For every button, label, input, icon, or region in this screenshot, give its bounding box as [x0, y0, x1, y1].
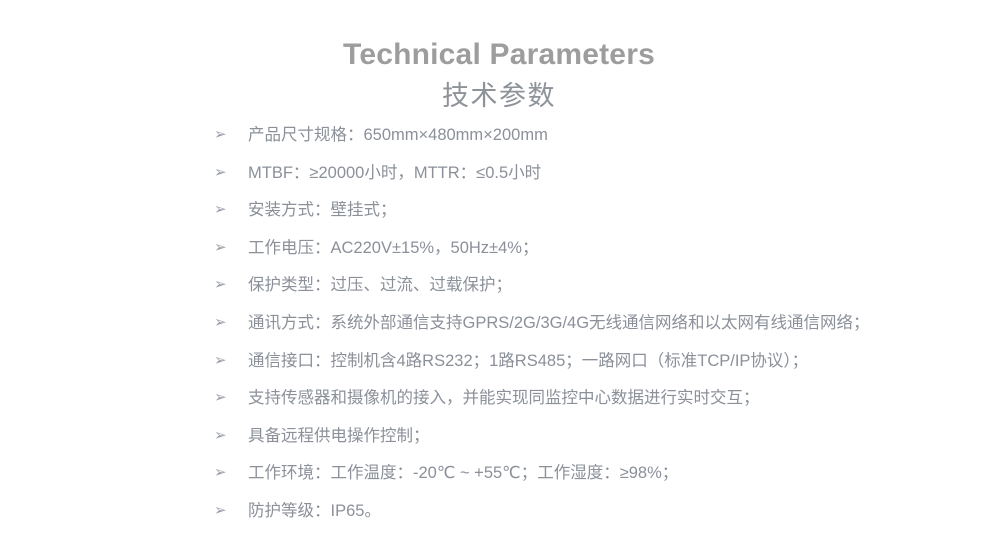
arrow-right-bullet-icon: ➢	[214, 197, 238, 223]
spec-item-text: 产品尺寸规格：650mm×480mm×200mm	[248, 122, 548, 148]
arrow-right-bullet-icon: ➢	[214, 122, 238, 148]
spec-item-text: 防护等级：IP65。	[248, 498, 381, 524]
spec-item-text: 工作电压：AC220V±15%，50Hz±4%；	[248, 235, 538, 261]
arrow-right-bullet-icon: ➢	[214, 235, 238, 261]
spec-list-item: ➢保护类型：过压、过流、过载保护；	[214, 272, 994, 310]
spec-item-text: MTBF：≥20000小时，MTTR：≤0.5小时	[248, 160, 541, 186]
spec-item-text: 通信接口：控制机含4路RS232；1路RS485；一路网口（标准TCP/IP协议…	[248, 348, 808, 374]
technical-parameters-page: Technical Parameters 技术参数 ➢产品尺寸规格：650mm×…	[0, 0, 998, 550]
spec-item-text: 安装方式：壁挂式；	[248, 197, 397, 223]
spec-list-item: ➢MTBF：≥20000小时，MTTR：≤0.5小时	[214, 160, 994, 198]
spec-item-text: 保护类型：过压、过流、过载保护；	[248, 272, 512, 298]
spec-list-item: ➢工作环境：工作温度：-20℃ ~ +55℃；工作湿度：≥98%；	[214, 460, 994, 498]
spec-item-text: 支持传感器和摄像机的接入，并能实现同监控中心数据进行实时交互；	[248, 385, 760, 411]
spec-item-text: 通讯方式：系统外部通信支持GPRS/2G/3G/4G无线通信网络和以太网有线通信…	[248, 310, 870, 336]
specification-list: ➢产品尺寸规格：650mm×480mm×200mm➢MTBF：≥20000小时，…	[214, 122, 994, 536]
spec-list-item: ➢安装方式：壁挂式；	[214, 197, 994, 235]
spec-list-item: ➢产品尺寸规格：650mm×480mm×200mm	[214, 122, 994, 160]
arrow-right-bullet-icon: ➢	[214, 160, 238, 186]
arrow-right-bullet-icon: ➢	[214, 423, 238, 449]
spec-item-text: 具备远程供电操作控制；	[248, 423, 430, 449]
spec-list-item: ➢工作电压：AC220V±15%，50Hz±4%；	[214, 235, 994, 273]
spec-item-text: 工作环境：工作温度：-20℃ ~ +55℃；工作湿度：≥98%；	[248, 460, 678, 486]
spec-list-item: ➢具备远程供电操作控制；	[214, 423, 994, 461]
arrow-right-bullet-icon: ➢	[214, 310, 238, 336]
spec-list-item: ➢支持传感器和摄像机的接入，并能实现同监控中心数据进行实时交互；	[214, 385, 994, 423]
spec-list-item: ➢通信接口：控制机含4路RS232；1路RS485；一路网口（标准TCP/IP协…	[214, 348, 994, 386]
page-title-chinese: 技术参数	[0, 78, 998, 114]
arrow-right-bullet-icon: ➢	[214, 385, 238, 411]
arrow-right-bullet-icon: ➢	[214, 348, 238, 374]
spec-list-item: ➢防护等级：IP65。	[214, 498, 994, 536]
spec-list-item: ➢通讯方式：系统外部通信支持GPRS/2G/3G/4G无线通信网络和以太网有线通…	[214, 310, 994, 348]
page-title-english: Technical Parameters	[0, 36, 998, 74]
arrow-right-bullet-icon: ➢	[214, 460, 238, 486]
arrow-right-bullet-icon: ➢	[214, 272, 238, 298]
arrow-right-bullet-icon: ➢	[214, 498, 238, 524]
page-heading: Technical Parameters 技术参数	[0, 36, 998, 114]
